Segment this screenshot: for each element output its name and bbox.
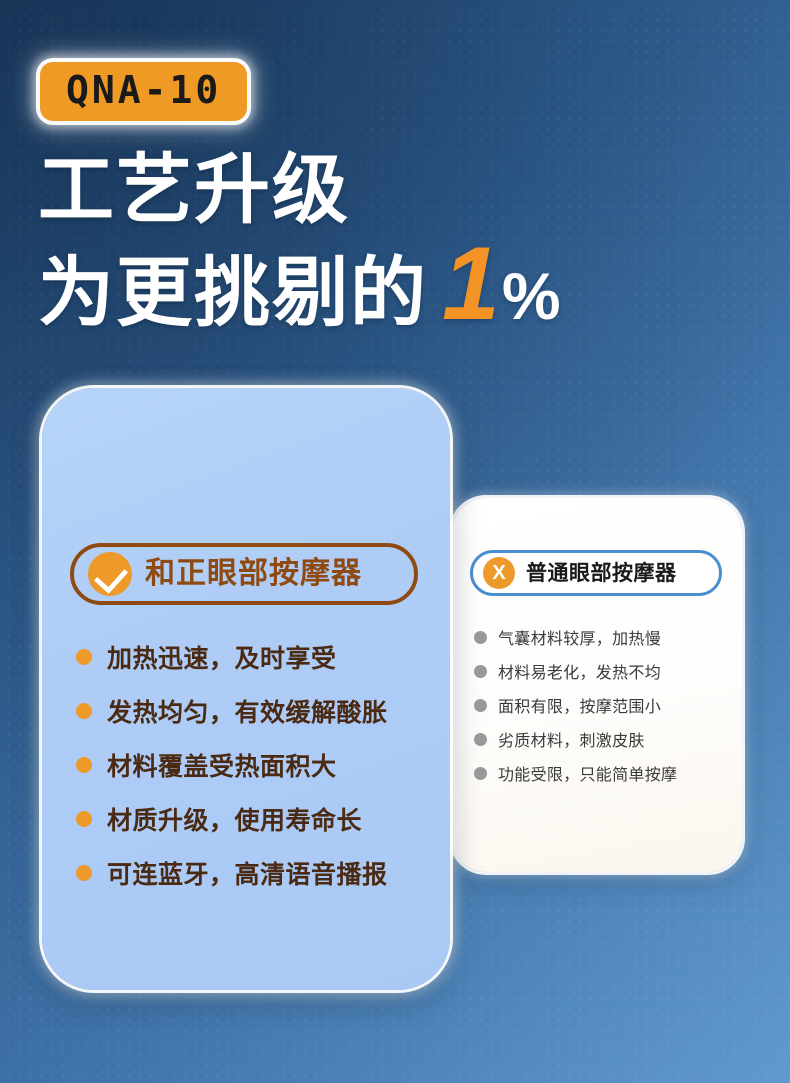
list-item-label: 材料覆盖受热面积大 (107, 747, 337, 783)
ours-feature-list: 加热迅速，及时享受 发热均匀，有效缓解酸胀 材料覆盖受热面积大 材质升级，使用寿… (76, 630, 436, 900)
list-item: 加热迅速，及时享受 (76, 630, 436, 684)
bullet-dot-icon (76, 649, 92, 665)
list-item-label: 加热迅速，及时享受 (107, 639, 337, 675)
bullet-dot-icon (474, 699, 487, 712)
headline-highlight-number: 1 (442, 238, 500, 332)
bullet-dot-icon (76, 811, 92, 827)
ordinary-title-pill: X 普通眼部按摩器 (470, 550, 722, 596)
list-item: 气囊材料较厚，加热慢 (474, 620, 734, 654)
check-circle-icon (88, 552, 132, 596)
ours-title-pill: 和正眼部按摩器 (70, 543, 418, 605)
comparison-card-ordinary: X 普通眼部按摩器 气囊材料较厚，加热慢 材料易老化，发热不均 面积有限，按摩范… (452, 498, 742, 872)
list-item: 材料易老化，发热不均 (474, 654, 734, 688)
list-item: 材质升级，使用寿命长 (76, 792, 436, 846)
list-item-label: 发热均匀，有效缓解酸胀 (107, 693, 388, 729)
list-item: 材料覆盖受热面积大 (76, 738, 436, 792)
bullet-dot-icon (474, 665, 487, 678)
headline-percent-symbol: % (502, 263, 561, 329)
bullet-dot-icon (474, 733, 487, 746)
list-item-label: 材质升级，使用寿命长 (107, 801, 362, 837)
list-item: 发热均匀，有效缓解酸胀 (76, 684, 436, 738)
ours-title-label: 和正眼部按摩器 (145, 559, 362, 589)
headline-line-2-text: 为更挑剔的 (38, 255, 428, 333)
list-item-label: 材料易老化，发热不均 (498, 659, 661, 683)
bullet-dot-icon (76, 865, 92, 881)
comparison-card-ours: 和正眼部按摩器 加热迅速，及时享受 发热均匀，有效缓解酸胀 材料覆盖受热面积大 … (42, 388, 450, 990)
product-model-badge: QNA-10 (40, 62, 247, 121)
headline-line-1: 工艺升级 (38, 152, 758, 230)
headline-block: 工艺升级 为更挑剔的 1 % (38, 152, 758, 332)
bullet-dot-icon (474, 767, 487, 780)
list-item: 劣质材料，刺激皮肤 (474, 722, 734, 756)
x-circle-icon: X (483, 557, 515, 589)
headline-line-2: 为更挑剔的 1 % (38, 238, 758, 333)
list-item: 可连蓝牙，高清语音播报 (76, 846, 436, 900)
list-item: 面积有限，按摩范围小 (474, 688, 734, 722)
list-item-label: 劣质材料，刺激皮肤 (498, 727, 645, 751)
list-item-label: 功能受限，只能简单按摩 (498, 761, 677, 785)
list-item-label: 面积有限，按摩范围小 (498, 693, 661, 717)
bullet-dot-icon (76, 757, 92, 773)
list-item-label: 可连蓝牙，高清语音播报 (107, 855, 388, 891)
poster-canvas: QNA-10 工艺升级 为更挑剔的 1 % 和正眼部按摩器 加热迅速，及时享受 … (0, 0, 790, 1083)
list-item-label: 气囊材料较厚，加热慢 (498, 625, 661, 649)
bullet-dot-icon (76, 703, 92, 719)
ordinary-drawback-list: 气囊材料较厚，加热慢 材料易老化，发热不均 面积有限，按摩范围小 劣质材料，刺激… (474, 620, 734, 790)
list-item: 功能受限，只能简单按摩 (474, 756, 734, 790)
ordinary-title-label: 普通眼部按摩器 (526, 563, 677, 584)
bullet-dot-icon (474, 631, 487, 644)
